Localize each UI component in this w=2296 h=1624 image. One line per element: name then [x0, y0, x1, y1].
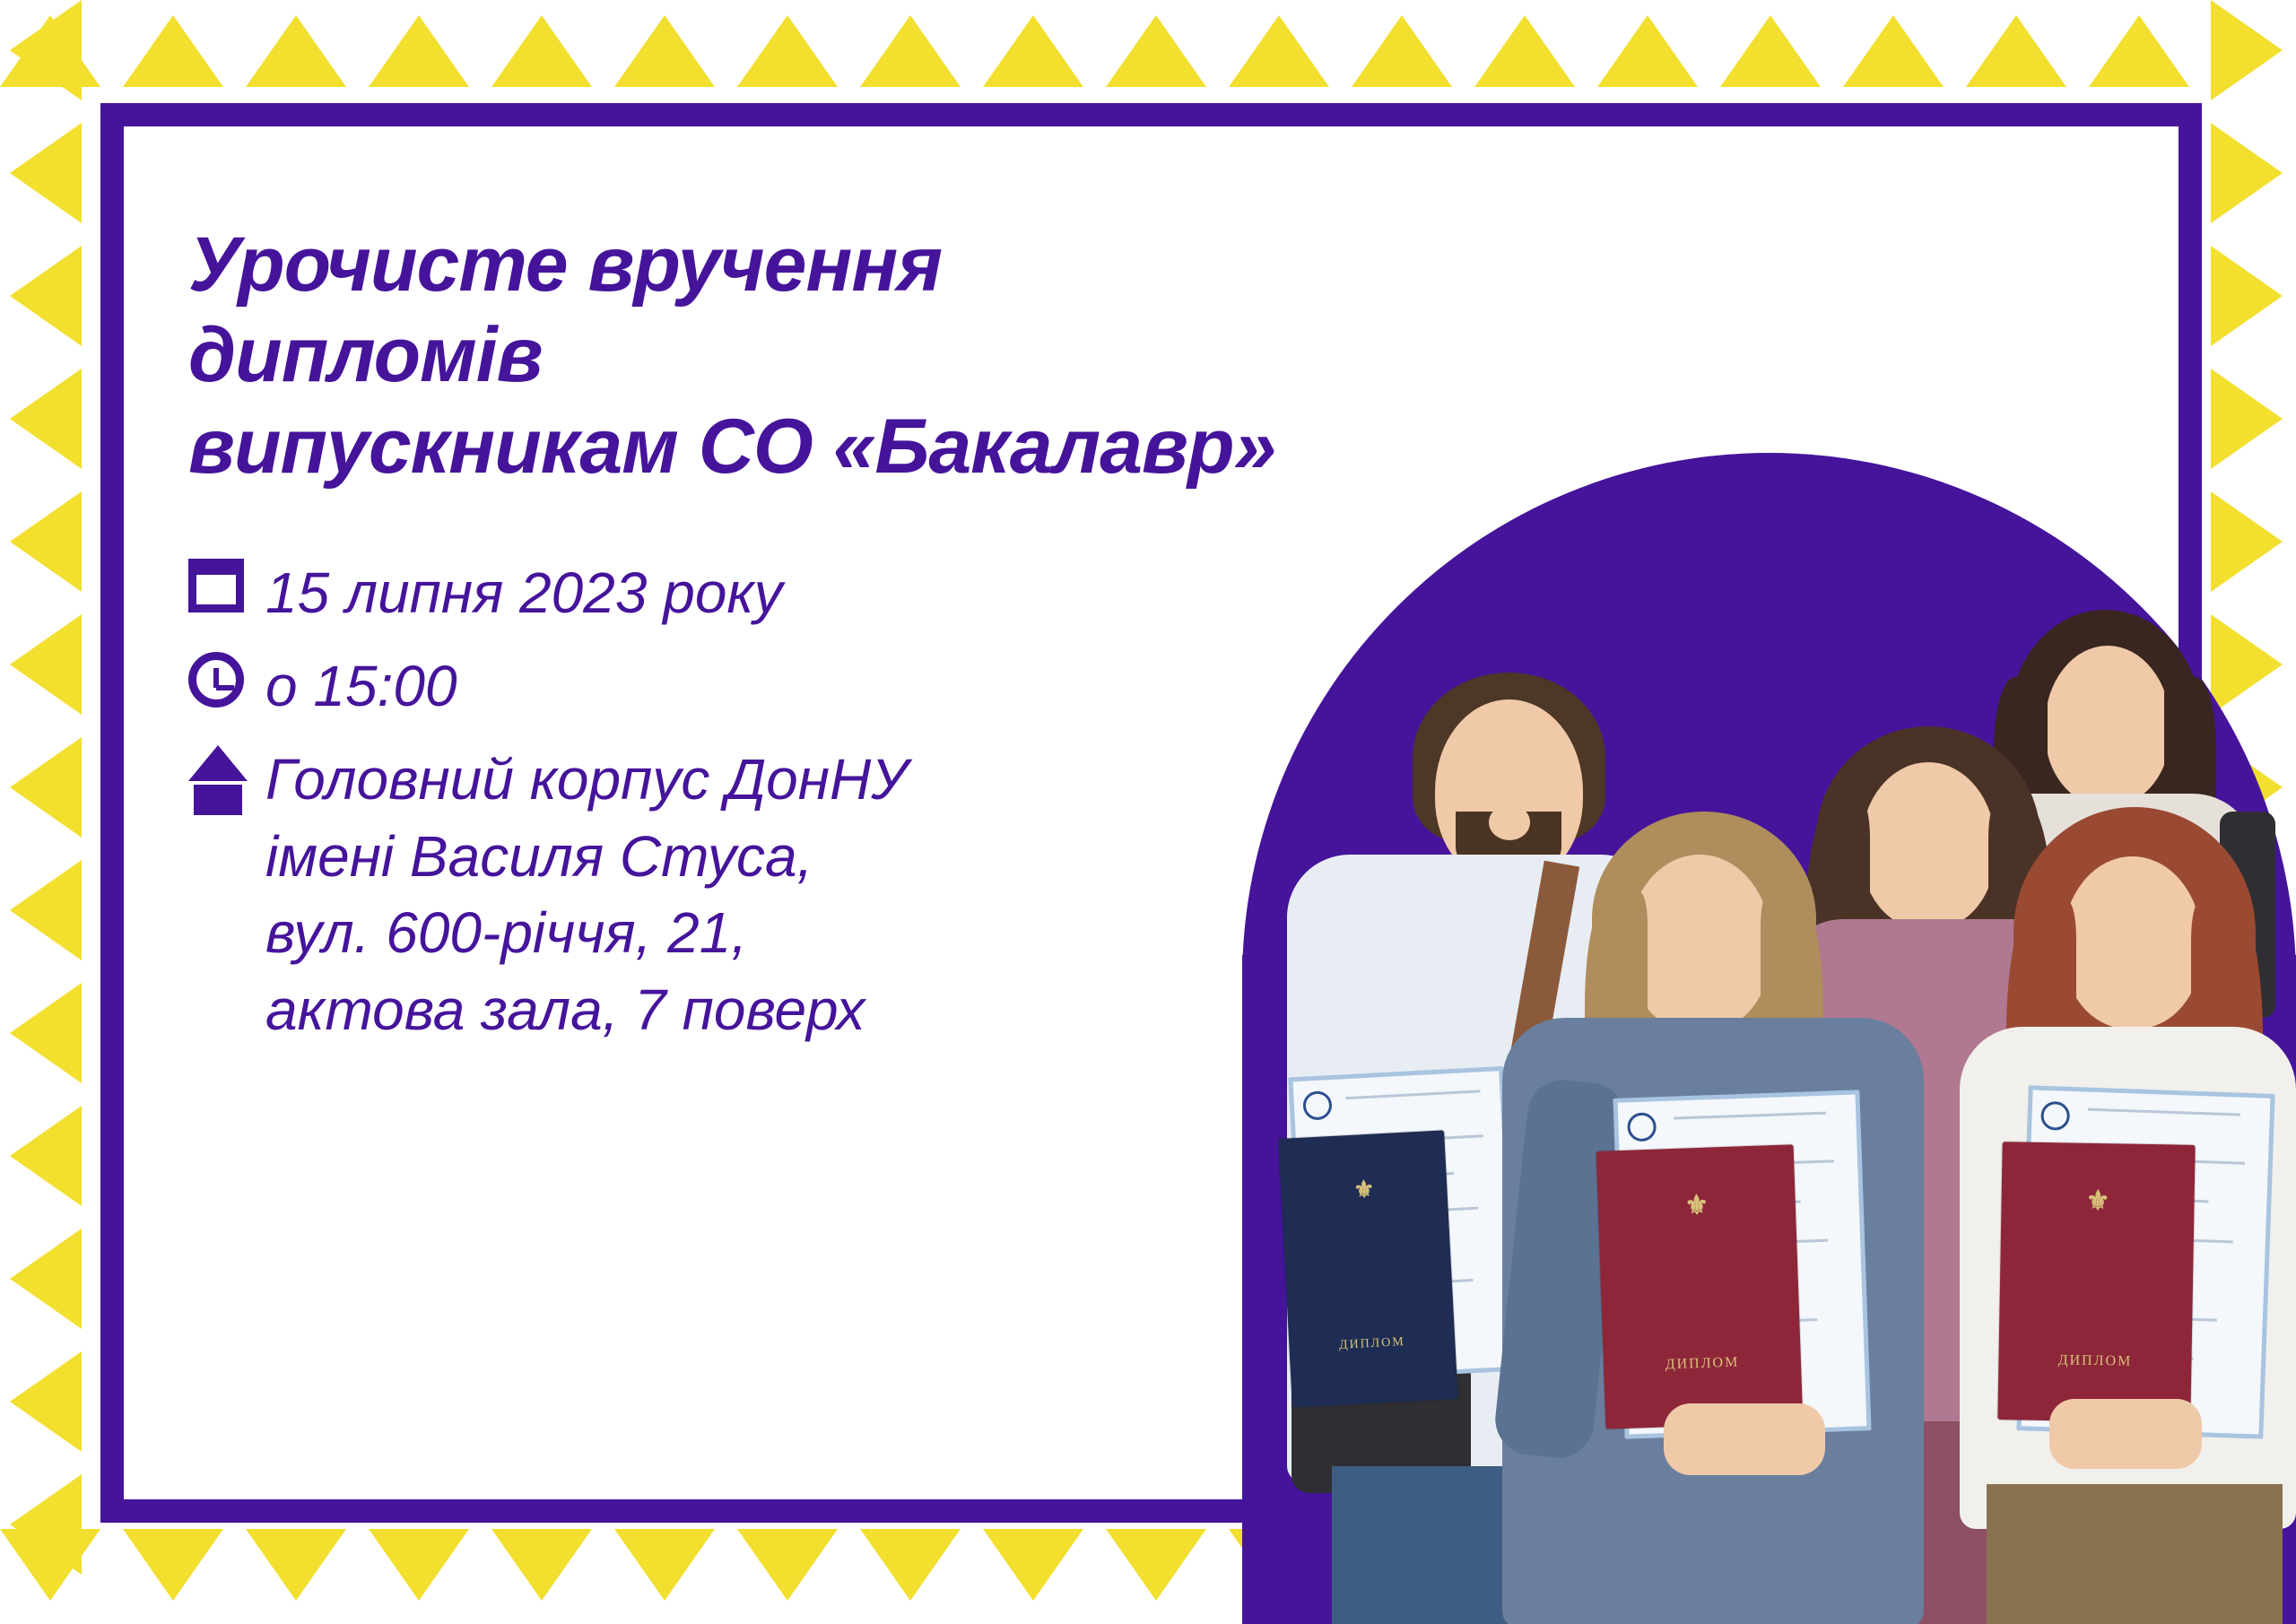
triangle-down-icon — [1106, 1529, 1206, 1601]
triangle-left-icon — [10, 0, 82, 100]
triangle-up-icon — [1966, 15, 2066, 87]
triangle-left-icon — [10, 246, 82, 346]
page-title: Урочисте вручення дипломів випускникам С… — [188, 220, 1309, 492]
triangle-up-icon — [2089, 15, 2189, 87]
triangle-down-icon — [614, 1529, 715, 1601]
triangle-up-icon — [1352, 15, 1452, 87]
triangle-right-icon — [2211, 0, 2283, 100]
detail-row-time: о 15:00 — [188, 648, 1309, 725]
detail-row-date: 15 липня 2023 року — [188, 555, 1309, 632]
triangle-up-icon — [1106, 15, 1206, 87]
calendar-icon — [188, 555, 265, 612]
triangle-left-icon — [10, 1351, 82, 1452]
title-line-2: випускникам СО «Бакалавр» — [188, 402, 1309, 492]
triangle-up-icon — [1843, 15, 1944, 87]
diploma-label: ДИПЛОМ — [2057, 1352, 2132, 1369]
triangle-up-icon — [491, 15, 592, 87]
poster-canvas: ⚜ ДИПЛОМ — [0, 0, 2296, 1624]
triangle-down-icon — [369, 1529, 469, 1601]
triangle-up-icon — [123, 15, 223, 87]
diploma-cover: ⚜ ДИПЛОМ — [1997, 1142, 2195, 1423]
triangle-up-icon — [860, 15, 961, 87]
triangle-left-icon — [10, 737, 82, 838]
triangle-down-icon — [737, 1529, 838, 1601]
diploma-label: ДИПЛОМ — [1665, 1355, 1739, 1374]
event-date: 15 липня 2023 року — [265, 555, 783, 632]
detail-row-location: Головний корпус ДонНУ імені Василя Стуса… — [188, 742, 1309, 1049]
triangle-up-icon — [614, 15, 715, 87]
event-location: Головний корпус ДонНУ імені Василя Стуса… — [265, 742, 908, 1049]
triangle-up-icon — [1229, 15, 1329, 87]
triangle-down-icon — [123, 1529, 223, 1601]
diploma-cover: ⚜ ДИПЛОМ — [1596, 1144, 1804, 1429]
graduates-group: ⚜ ДИПЛОМ — [1242, 453, 2296, 1624]
triangle-down-icon — [860, 1529, 961, 1601]
triangle-up-icon — [737, 15, 838, 87]
triangle-left-icon — [10, 860, 82, 960]
triangle-up-icon — [1474, 15, 1575, 87]
triangle-up-icon — [369, 15, 469, 87]
triangle-left-icon — [10, 983, 82, 1083]
clock-icon — [188, 648, 265, 708]
triangle-left-icon — [10, 1474, 82, 1575]
triangle-up-icon — [1720, 15, 1821, 87]
triangle-up-icon — [1597, 15, 1698, 87]
triangle-left-icon — [10, 123, 82, 223]
triangle-right-icon — [2211, 123, 2283, 223]
triangle-border-top — [0, 13, 2296, 89]
diploma-cover: ⚜ ДИПЛОМ — [1278, 1130, 1457, 1407]
diploma-label: ДИПЛОМ — [1339, 1335, 1406, 1353]
triangle-left-icon — [10, 1229, 82, 1329]
triangle-left-icon — [10, 1106, 82, 1206]
triangle-down-icon — [491, 1529, 592, 1601]
graduates-photo: ⚜ ДИПЛОМ — [1242, 453, 2296, 1624]
triangle-right-icon — [2211, 246, 2283, 346]
poster-content: Урочисте вручення дипломів випускникам С… — [188, 220, 1309, 1065]
building-icon — [188, 742, 265, 815]
triangle-left-icon — [10, 491, 82, 592]
triangle-border-left — [7, 0, 83, 1624]
triangle-down-icon — [983, 1529, 1083, 1601]
event-time: о 15:00 — [265, 648, 457, 725]
triangle-left-icon — [10, 614, 82, 715]
title-line-1: Урочисте вручення дипломів — [188, 220, 1309, 402]
triangle-up-icon — [246, 15, 346, 87]
triangle-up-icon — [983, 15, 1083, 87]
triangle-left-icon — [10, 369, 82, 469]
triangle-down-icon — [246, 1529, 346, 1601]
